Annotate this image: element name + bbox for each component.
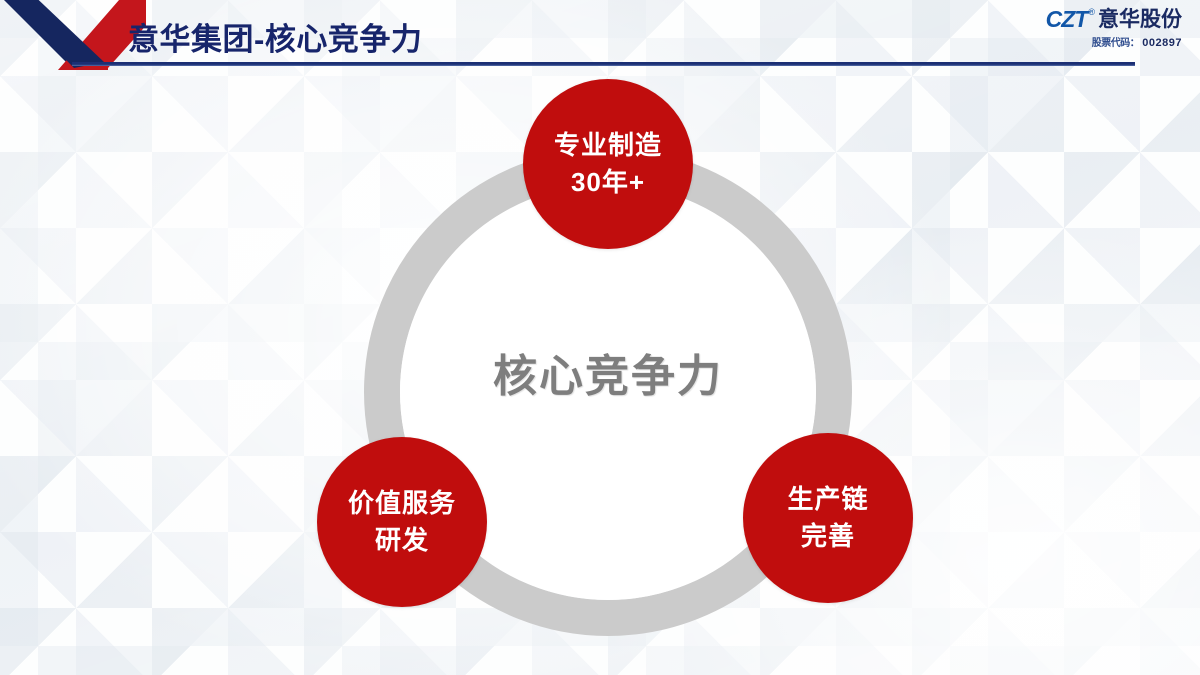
diagram-node-value-service-rd[interactable]: 价值服务 研发 [317, 437, 487, 607]
node-label-line2: 完善 [801, 518, 855, 555]
node-label-line1: 生产链 [787, 481, 868, 518]
diagram-node-production-chain[interactable]: 生产链 完善 [743, 433, 913, 603]
node-label-line2: 研发 [375, 522, 429, 559]
node-label-line1: 价值服务 [348, 485, 456, 522]
diagram-center-label: 核心竞争力 [408, 340, 808, 404]
core-competitiveness-diagram: 核心竞争力 专业制造 30年+ 价值服务 研发 生产链 完善 [0, 0, 1200, 675]
slide-canvas: 意华集团-核心竞争力 CZT ® 意华股份 股票代码： 002897 核心竞争力… [0, 0, 1200, 675]
diagram-node-professional-manufacturing[interactable]: 专业制造 30年+ [523, 79, 693, 249]
node-label-line2: 30年+ [571, 164, 645, 201]
node-label-line1: 专业制造 [554, 127, 662, 164]
